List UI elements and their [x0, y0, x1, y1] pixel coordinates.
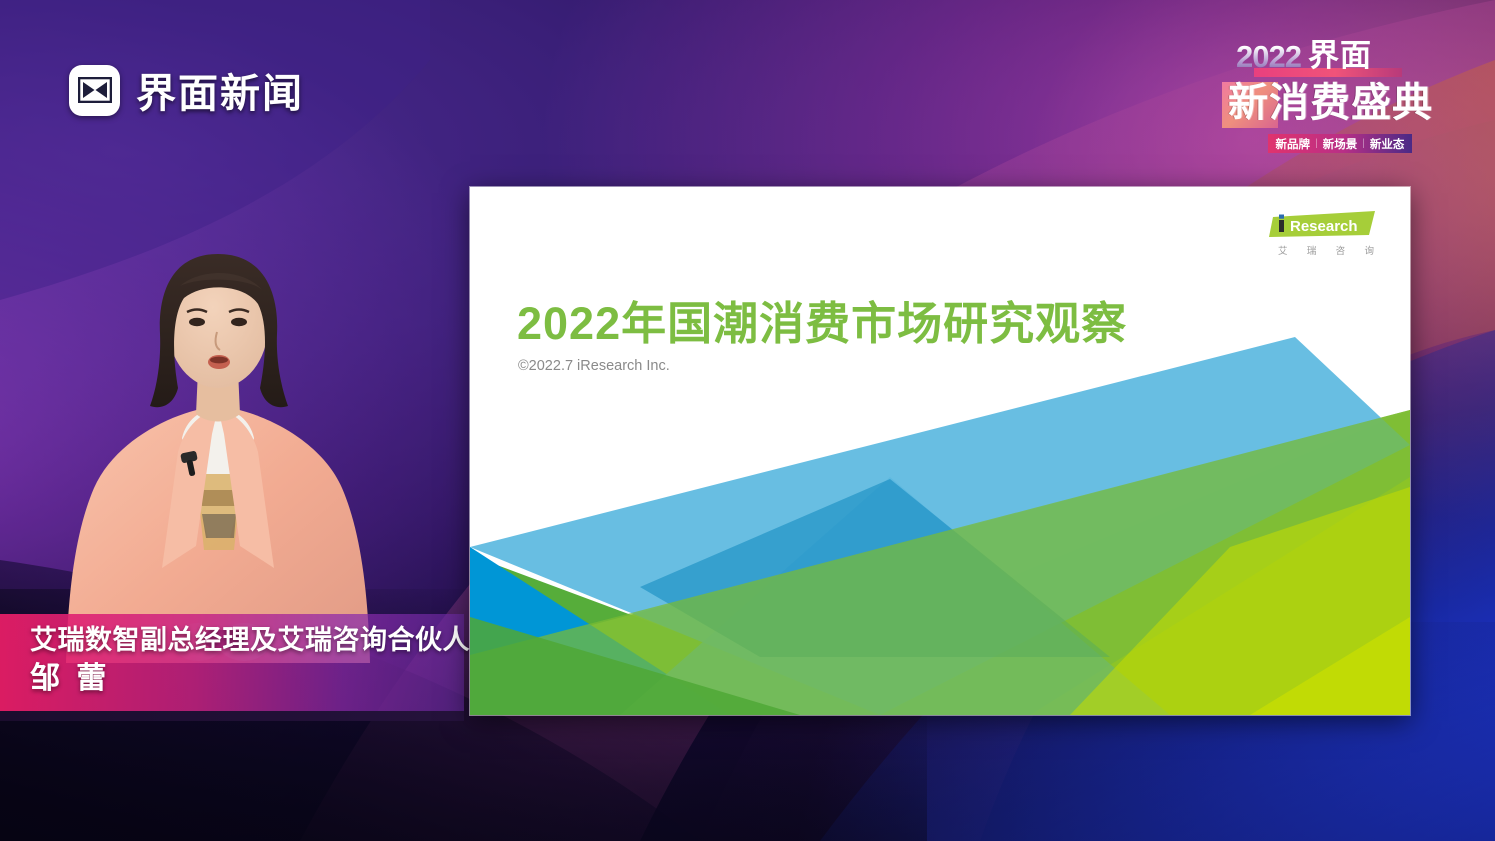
- badge-title: 新消费盛典: [1228, 78, 1433, 128]
- badge-separator-2: |: [1362, 138, 1365, 149]
- slide-copyright: ©2022.7 iResearch Inc.: [518, 358, 670, 374]
- jiemian-logo-icon: [69, 65, 120, 116]
- badge-row-year: 2022 界面: [1222, 38, 1412, 78]
- presenter-video: [58, 238, 378, 663]
- badge-tag-3: 新业态: [1370, 136, 1405, 152]
- badge-separator-1: |: [1315, 138, 1318, 149]
- iresearch-logo: Research 艾 瑞 咨 询: [1269, 211, 1377, 257]
- badge-row-title: 新消费盛典: [1222, 80, 1412, 128]
- badge-year: 2022: [1236, 37, 1301, 77]
- slide-title: 2022年国潮消费市场研究观察: [517, 287, 1127, 352]
- iresearch-cn-char-1: 艾: [1278, 243, 1288, 257]
- iresearch-cn-char-2: 瑞: [1307, 243, 1317, 257]
- event-badge: 2022 界面 新消费盛典 新品牌 | 新场景 | 新业态: [1222, 38, 1412, 158]
- channel-brand: 界面新闻: [69, 61, 304, 119]
- lower-third-strip: [0, 711, 464, 721]
- lower-third-banner: 艾瑞数智副总经理及艾瑞咨询合伙人 邹 蕾: [0, 614, 464, 711]
- iresearch-cn-char-4: 询: [1364, 243, 1374, 257]
- iresearch-cn-name: 艾 瑞 咨 询: [1269, 243, 1377, 257]
- speaker-name: 邹 蕾: [30, 659, 464, 699]
- badge-tag-bar: 新品牌 | 新场景 | 新业态: [1268, 134, 1412, 153]
- speaker-role: 艾瑞数智副总经理及艾瑞咨询合伙人: [30, 623, 464, 657]
- svg-text:Research: Research: [1290, 218, 1358, 235]
- brand-name: 界面新闻: [136, 61, 304, 119]
- badge-tag-1: 新品牌: [1276, 136, 1311, 152]
- badge-org: 界面: [1308, 36, 1372, 76]
- badge-tag-2: 新场景: [1323, 136, 1358, 152]
- presentation-slide[interactable]: 2022年国潮消费市场研究观察 ©2022.7 iResearch Inc. R…: [470, 187, 1410, 715]
- broadcast-screen: 艾瑞数智副总经理及艾瑞咨询合伙人 邹 蕾 界面新闻 2022 界面 新消费盛典 …: [0, 0, 1495, 841]
- iresearch-wordmark-icon: Research: [1269, 211, 1377, 239]
- slide-geometric-artwork: [470, 187, 1410, 715]
- iresearch-cn-char-3: 咨: [1336, 243, 1346, 257]
